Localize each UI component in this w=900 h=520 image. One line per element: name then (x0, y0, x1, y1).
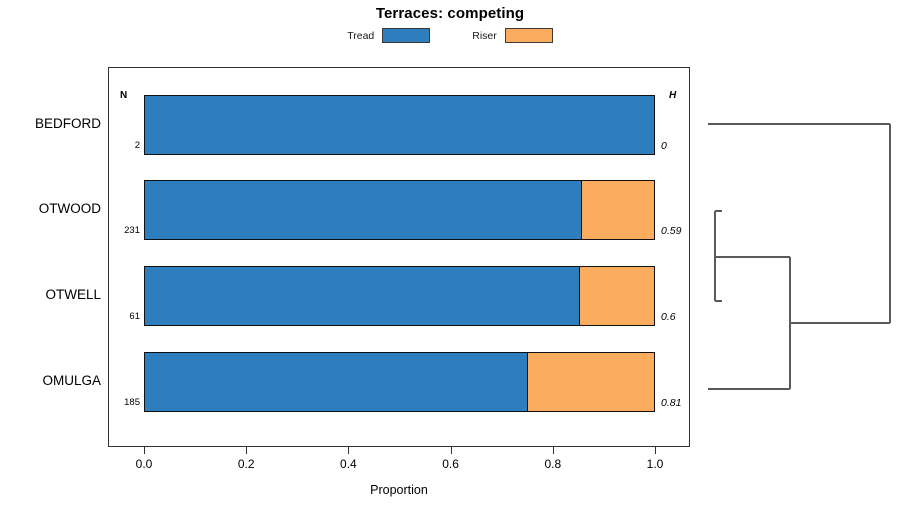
bar-segment-tread (145, 96, 654, 154)
x-axis-tick-label: 0.0 (119, 457, 169, 471)
x-axis-tick-label: 1.0 (630, 457, 680, 471)
bar-segment-tread (145, 267, 580, 325)
legend-entry-tread: Tread (347, 28, 430, 43)
x-axis-tick (246, 447, 247, 454)
chart-title: Terraces: competing (0, 5, 900, 22)
x-axis-title: Proportion (108, 483, 690, 497)
stacked-bar (144, 180, 655, 240)
n-value: 61 (112, 311, 140, 322)
x-axis-tick (553, 447, 554, 454)
x-axis-tick (348, 447, 349, 454)
chart-canvas: Terraces: competing Tread Riser N H BEDF… (0, 0, 900, 520)
h-value: 0.6 (661, 311, 676, 323)
x-axis-tick (655, 447, 656, 454)
chart-legend: Tread Riser (0, 28, 900, 43)
legend-entry-riser: Riser (472, 28, 553, 43)
stacked-bar (144, 266, 655, 326)
bar-segment-riser (528, 353, 654, 411)
bar-segment-tread (145, 353, 528, 411)
x-axis-tick-label: 0.6 (426, 457, 476, 471)
h-value: 0.59 (661, 225, 681, 237)
row-label-bedford: BEDFORD (0, 116, 101, 131)
bar-segment-riser (580, 267, 654, 325)
n-value: 185 (112, 397, 140, 408)
bar-segment-tread (145, 181, 582, 239)
stacked-bar (144, 352, 655, 412)
dendrogram (690, 67, 900, 447)
x-axis-tick-label: 0.4 (323, 457, 373, 471)
stacked-bar (144, 95, 655, 155)
legend-swatch-tread-icon (382, 28, 430, 43)
dendrogram-svg (690, 67, 900, 447)
legend-label-tread: Tread (347, 30, 374, 42)
x-axis: 0.00.20.40.60.81.0 (108, 447, 690, 477)
x-axis-tick (144, 447, 145, 454)
legend-label-riser: Riser (472, 30, 497, 42)
n-value: 2 (112, 140, 140, 151)
h-value: 0.81 (661, 397, 681, 409)
h-value: 0 (661, 140, 667, 152)
bar-segment-riser (582, 181, 654, 239)
n-value: 231 (112, 225, 140, 236)
row-label-otwell: OTWELL (0, 287, 101, 302)
x-axis-tick-label: 0.8 (528, 457, 578, 471)
row-label-omulga: OMULGA (0, 373, 101, 388)
x-axis-tick-label: 0.2 (221, 457, 271, 471)
row-label-otwood: OTWOOD (0, 201, 101, 216)
x-axis-tick (451, 447, 452, 454)
legend-swatch-riser-icon (505, 28, 553, 43)
